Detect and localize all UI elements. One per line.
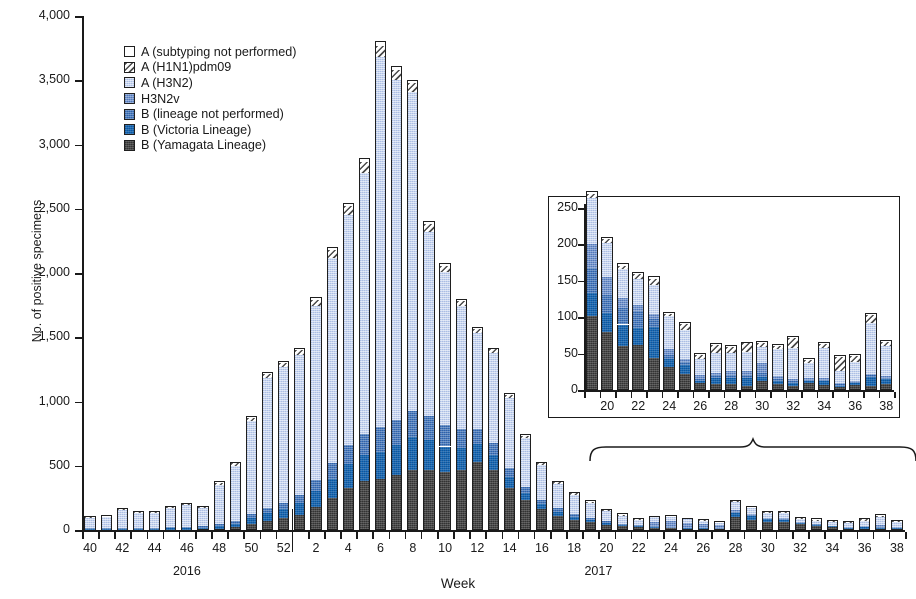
bar-segment (520, 500, 531, 530)
bar-segment (101, 515, 112, 516)
bar-segment (423, 470, 434, 530)
x-axis-tick (615, 532, 617, 539)
y-axis-tick (75, 16, 82, 18)
y-axis-tick-label: 0 (20, 522, 70, 536)
bar-column (133, 16, 144, 530)
bar-segment (278, 518, 289, 530)
bar-segment (552, 482, 563, 484)
bar-segment (343, 206, 354, 215)
bar-segment (488, 455, 499, 469)
x-axis-tick-label: 48 (201, 541, 237, 555)
bar-segment (585, 503, 596, 518)
bar-segment (375, 41, 386, 45)
x-axis-tick (389, 532, 391, 539)
bar-segment (746, 506, 757, 507)
bar-segment (197, 528, 208, 530)
bar-segment (536, 509, 547, 530)
bar-column (294, 16, 305, 530)
x-axis-tick (695, 532, 697, 539)
bar-segment (343, 445, 354, 464)
bar-segment (214, 483, 225, 485)
bar-segment (246, 416, 257, 417)
bar-segment (214, 481, 225, 482)
bar-segment (746, 508, 757, 514)
bar-segment (391, 80, 402, 419)
bar-segment (488, 443, 499, 456)
bar-segment (552, 484, 563, 508)
x-axis-tick-label: 36 (847, 541, 883, 555)
bar-segment (439, 447, 450, 473)
bar-segment (569, 514, 580, 517)
bar-segment (246, 421, 257, 514)
x-axis-tick (147, 532, 149, 539)
bar-segment (310, 480, 321, 492)
bar-segment (601, 509, 612, 510)
bar-column (230, 16, 241, 530)
x-axis-tick (227, 532, 229, 539)
x-axis-tick-label: 14 (492, 541, 528, 555)
x-axis-tick-label: 18 (556, 541, 592, 555)
bar-segment (181, 505, 192, 527)
x-axis-tick-label: 38 (879, 541, 915, 555)
x-axis-tick (760, 532, 762, 539)
x-axis-tick-label: 22 (621, 541, 657, 555)
bar-segment (375, 479, 386, 530)
bar-segment (843, 529, 854, 530)
bar-segment (310, 297, 321, 300)
bar-segment (214, 524, 225, 526)
bar-segment (133, 511, 144, 512)
bar-segment (407, 437, 418, 469)
inset-x-axis-tick (693, 392, 695, 398)
bar-segment (310, 306, 321, 479)
x-axis-tick (276, 532, 278, 539)
x-axis-tick-label: 34 (814, 541, 850, 555)
bar-segment (439, 263, 450, 266)
bar-segment (197, 506, 208, 507)
bar-column (536, 16, 547, 530)
bar-segment (375, 427, 386, 451)
bar-segment (859, 518, 870, 519)
bar-segment (197, 508, 208, 526)
bar-segment (698, 519, 709, 520)
bar-segment (746, 520, 757, 530)
bar-segment (682, 518, 693, 519)
bar-segment (439, 425, 450, 447)
bar-segment (682, 523, 693, 528)
x-axis-tick (631, 532, 633, 539)
y-axis-tick-label: 1,000 (20, 394, 70, 408)
bar-segment (359, 434, 370, 456)
bar-segment (197, 507, 208, 508)
bar-segment (569, 495, 580, 514)
x-axis-tick-label: 42 (104, 541, 140, 555)
bar-segment (343, 203, 354, 206)
bar-segment (827, 522, 838, 526)
bar-segment (504, 477, 515, 487)
x-axis-tick (243, 532, 245, 539)
x-axis-tick (582, 532, 584, 539)
bar-segment (875, 514, 886, 515)
bar-segment (359, 173, 370, 434)
bar-column (359, 16, 370, 530)
bar-segment (875, 516, 886, 518)
x-axis-tick-label: 46 (169, 541, 205, 555)
bar-segment (165, 528, 176, 529)
bar-segment (585, 502, 596, 503)
bar-segment (665, 515, 676, 516)
x-axis-tick (437, 532, 439, 539)
inset-x-axis-tick (662, 392, 664, 398)
x-axis-title: Week (0, 576, 916, 591)
bar-segment (230, 521, 241, 524)
bar-segment (795, 524, 806, 530)
y-axis-tick (75, 273, 82, 275)
bar-segment (601, 525, 612, 530)
x-axis-tick (824, 532, 826, 539)
x-axis-tick (840, 532, 842, 539)
x-axis-tick-label: 30 (750, 541, 786, 555)
bar-segment (423, 224, 434, 231)
x-axis-tick (857, 532, 859, 539)
bar-segment (456, 470, 467, 530)
x-axis-tick-label: 12 (459, 541, 495, 555)
x-axis-tick (518, 532, 520, 539)
bar-segment (472, 444, 483, 462)
bar-column (552, 16, 563, 530)
x-axis-tick (598, 532, 600, 539)
bar-segment (327, 258, 338, 464)
x-axis-tick (663, 532, 665, 539)
bar-segment (327, 247, 338, 250)
x-axis-tick-label: 24 (653, 541, 689, 555)
x-axis-tick-label: 52 (266, 541, 302, 555)
y-axis-tick-label: 4,000 (20, 8, 70, 22)
bar-column (246, 16, 257, 530)
x-axis-tick (550, 532, 552, 539)
bar-segment (891, 520, 902, 521)
bar-segment (472, 462, 483, 530)
bar-column (117, 16, 128, 530)
x-axis-tick (469, 532, 471, 539)
bar-segment (778, 520, 789, 522)
bar-segment (423, 440, 434, 470)
bar-segment (165, 508, 176, 527)
bar-segment (375, 46, 386, 58)
bar-segment (472, 429, 483, 444)
bar-segment (423, 416, 434, 440)
bar-segment (197, 526, 208, 527)
bar-segment (230, 463, 241, 466)
bar-column (407, 16, 418, 530)
bar-column (197, 16, 208, 530)
bar-segment (262, 521, 273, 530)
bar-segment (278, 363, 289, 367)
x-axis-tick (534, 532, 536, 539)
bar-segment (504, 395, 515, 398)
bar-segment (230, 462, 241, 463)
x-axis-year-label: 2016 (153, 564, 221, 578)
bar-segment (649, 517, 660, 522)
bar-segment (181, 503, 192, 504)
y-axis-tick (75, 466, 82, 468)
x-axis-year-label: 2017 (564, 564, 632, 578)
x-axis-tick-label: 28 (718, 541, 754, 555)
bar-segment (730, 517, 741, 530)
bar-segment (778, 522, 789, 530)
bar-segment (117, 510, 128, 528)
x-axis-tick-label: 8 (395, 541, 431, 555)
bar-segment (536, 465, 547, 500)
bar-segment (585, 522, 596, 530)
bar-segment (843, 521, 854, 522)
bar-segment (262, 513, 273, 521)
bar-segment (294, 495, 305, 503)
bar-segment (617, 525, 628, 526)
x-axis-tick (905, 532, 907, 539)
x-axis-tick-label: 10 (427, 541, 463, 555)
bar-segment (310, 507, 321, 530)
bar-segment (439, 472, 450, 530)
bar-segment (649, 516, 660, 517)
bar-segment (714, 525, 725, 528)
x-axis-tick-label: 4 (330, 541, 366, 555)
bar-column (456, 16, 467, 530)
bar-segment (488, 348, 499, 350)
bar-segment (391, 445, 402, 475)
bar-segment (246, 418, 257, 421)
x-axis-tick-label: 40 (72, 541, 108, 555)
bar-column (472, 16, 483, 530)
y-axis-tick (75, 145, 82, 147)
bar-segment (649, 522, 660, 526)
bar-segment (230, 466, 241, 521)
bar-segment (214, 485, 225, 525)
y-axis-tick (75, 530, 82, 532)
bar-segment (536, 500, 547, 505)
x-axis-tick (744, 532, 746, 539)
bar-segment (294, 350, 305, 355)
bar-segment (504, 488, 515, 530)
bar-segment (456, 448, 467, 470)
bar-column (278, 16, 289, 530)
bar-segment (327, 463, 338, 478)
bar-segment (375, 452, 386, 479)
x-axis-tick (308, 532, 310, 539)
bar-segment (214, 529, 225, 530)
chart-figure: No. of positive specimens 05010015020025… (0, 0, 916, 599)
bar-segment (262, 508, 273, 514)
x-axis-tick-label: 2 (298, 541, 334, 555)
bar-segment (149, 511, 160, 512)
bar-segment (84, 518, 95, 529)
bar-segment (585, 518, 596, 520)
bar-segment (343, 215, 354, 445)
bar-segment (778, 511, 789, 512)
bar-segment (552, 516, 563, 530)
bar-segment (456, 301, 467, 306)
bar-segment (520, 438, 531, 487)
bar-segment (875, 525, 886, 527)
x-axis-tick (179, 532, 181, 539)
x-axis-tick (792, 532, 794, 539)
x-axis-tick (711, 532, 713, 539)
bar-segment (359, 162, 370, 173)
bar-segment (423, 221, 434, 224)
bar-column (375, 16, 386, 530)
x-axis-tick (211, 532, 213, 539)
bar-segment (601, 511, 612, 521)
bar-segment (456, 306, 467, 428)
x-axis-tick (372, 532, 374, 539)
bar-segment (294, 348, 305, 350)
y-axis-tick-label: 1,500 (20, 329, 70, 343)
bar-segment (343, 464, 354, 487)
bar-segment (472, 327, 483, 329)
x-axis-tick (647, 532, 649, 539)
bar-column (214, 16, 225, 530)
x-axis-tick (502, 532, 504, 539)
bar-segment (343, 488, 354, 530)
bar-segment (488, 353, 499, 443)
bar-segment (730, 502, 741, 510)
bar-segment (359, 481, 370, 530)
bar-segment (617, 513, 628, 514)
bar-segment (569, 493, 580, 495)
bar-segment (181, 528, 192, 529)
x-axis-tick-label: 50 (233, 541, 269, 555)
bar-segment (569, 520, 580, 530)
bar-segment (585, 500, 596, 501)
bar-segment (682, 519, 693, 522)
bar-segment (730, 500, 741, 501)
bar-segment (698, 524, 709, 528)
bar-segment (278, 503, 289, 510)
bar-segment (456, 429, 467, 448)
x-axis-tick (340, 532, 342, 539)
y-axis-tick (75, 80, 82, 82)
x-axis-tick (114, 532, 116, 539)
y-axis-tick-label: 500 (20, 458, 70, 472)
bar-segment (133, 513, 144, 528)
bar-segment (601, 523, 612, 525)
x-axis-tick (405, 532, 407, 539)
bar-segment (552, 512, 563, 516)
bar-segment (569, 492, 580, 493)
x-axis-tick (453, 532, 455, 539)
bar-column (327, 16, 338, 530)
x-axis-tick (130, 532, 132, 539)
bar-segment (278, 509, 289, 518)
bar-column (569, 16, 580, 530)
bar-segment (730, 510, 741, 512)
y-axis-tick (75, 337, 82, 339)
bar-segment (375, 57, 386, 427)
bar-segment (391, 420, 402, 446)
bar-segment (504, 398, 515, 469)
bar-segment (165, 506, 176, 507)
bar-segment (617, 516, 628, 524)
bar-segment (84, 516, 95, 517)
bar-segment (359, 455, 370, 481)
x-axis-tick (889, 532, 891, 539)
bar-segment (407, 80, 418, 83)
y-axis-line (82, 16, 84, 532)
x-axis-tick (324, 532, 326, 539)
inset-x-axis-tick (646, 392, 648, 398)
x-axis-tick-label: 6 (363, 541, 399, 555)
bar-segment (407, 83, 418, 91)
bar-segment (101, 517, 112, 528)
bar-segment (875, 528, 886, 529)
bar-segment (262, 372, 273, 374)
bar-segment (843, 523, 854, 526)
bar-segment (811, 521, 822, 524)
inset-range-brace-icon (588, 437, 916, 463)
bar-segment (859, 521, 870, 527)
bar-segment (407, 411, 418, 438)
bar-segment (649, 528, 660, 530)
bar-segment (585, 520, 596, 522)
bar-column (488, 16, 499, 530)
bar-segment (698, 521, 709, 524)
x-axis-tick (727, 532, 729, 539)
bar-segment (762, 522, 773, 530)
x-axis-tick (260, 532, 262, 539)
x-axis-tick-label: 44 (137, 541, 173, 555)
bar-segment (811, 526, 822, 530)
bar-segment (294, 515, 305, 530)
bar-segment (536, 463, 547, 465)
bar-segment (423, 232, 434, 416)
bar-segment (778, 513, 789, 518)
bar-segment (520, 436, 531, 439)
bar-segment (278, 367, 289, 503)
bar-segment (795, 523, 806, 524)
bar-segment (617, 526, 628, 530)
bar-segment (891, 522, 902, 527)
bar-segment (520, 493, 531, 500)
bar-segment (278, 361, 289, 363)
bar-segment (665, 521, 676, 527)
bar-segment (294, 503, 305, 515)
x-axis-tick-label: 26 (685, 541, 721, 555)
bar-column (520, 16, 531, 530)
bar-column (310, 16, 321, 530)
bar-segment (552, 481, 563, 482)
x-axis-tick (356, 532, 358, 539)
x-axis-tick (873, 532, 875, 539)
bar-segment (552, 508, 563, 512)
x-axis-tick (82, 532, 84, 539)
bar-segment (391, 70, 402, 80)
bar-segment (359, 158, 370, 162)
x-axis-tick (566, 532, 568, 539)
bar-segment (633, 518, 644, 519)
x-axis-tick-label: 16 (524, 541, 560, 555)
bar-segment (520, 434, 531, 435)
x-axis-tick (421, 532, 423, 539)
bar-segment (472, 329, 483, 334)
y-axis-tick-label: 2,000 (20, 265, 70, 279)
y-axis-tick-label: 2,500 (20, 201, 70, 215)
inset-x-axis-tick (677, 392, 679, 398)
bar-column (84, 16, 95, 530)
bar-column (181, 16, 192, 530)
bar-segment (262, 378, 273, 508)
y-axis-tick-label: 3,000 (20, 137, 70, 151)
bar-segment (310, 491, 321, 506)
